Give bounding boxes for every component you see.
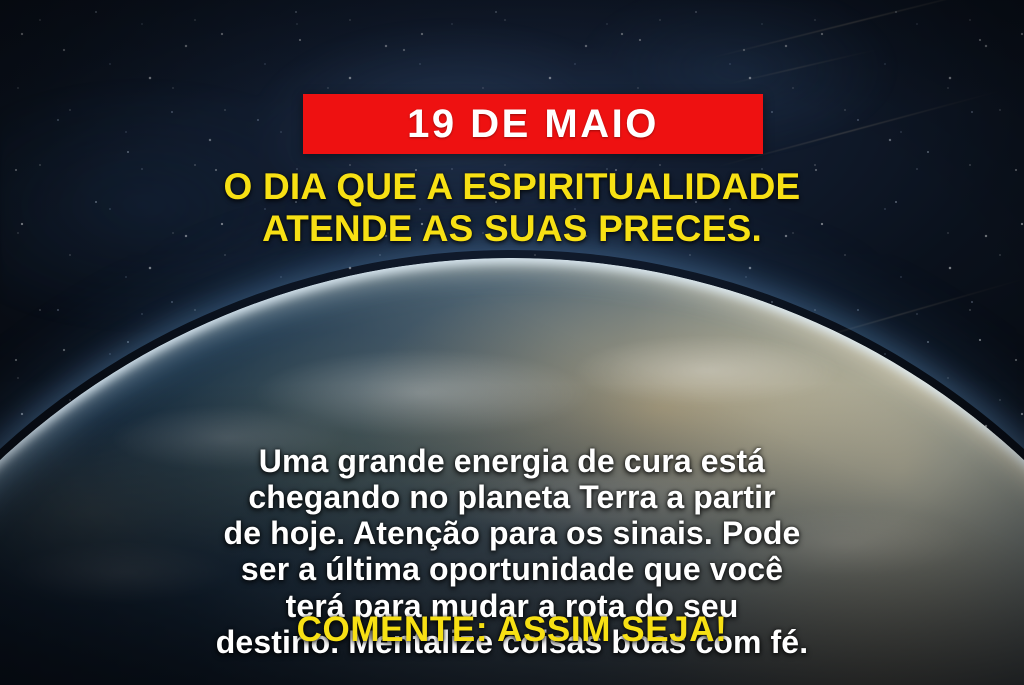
- poster-content: 19 DE MAIO O DIA QUE A ESPIRITUALIDADE A…: [0, 0, 1024, 685]
- headline-line-2: ATENDE AS SUAS PRECES.: [40, 208, 984, 250]
- date-banner-text: 19 DE MAIO: [407, 104, 659, 144]
- body-line-4: ser a última oportunidade que você: [52, 551, 972, 587]
- poster-image: 19 DE MAIO O DIA QUE A ESPIRITUALIDADE A…: [0, 0, 1024, 685]
- headline-line-1: O DIA QUE A ESPIRITUALIDADE: [40, 166, 984, 208]
- body-line-2: chegando no planeta Terra a partir: [52, 479, 972, 515]
- date-banner: 19 DE MAIO: [303, 94, 763, 154]
- body-line-1: Uma grande energia de cura está: [52, 443, 972, 479]
- body-line-3: de hoje. Atenção para os sinais. Pode: [52, 515, 972, 551]
- headline: O DIA QUE A ESPIRITUALIDADE ATENDE AS SU…: [0, 166, 1024, 250]
- call-to-action-text: COMENTE: ASSIM SEJA!: [0, 612, 1024, 647]
